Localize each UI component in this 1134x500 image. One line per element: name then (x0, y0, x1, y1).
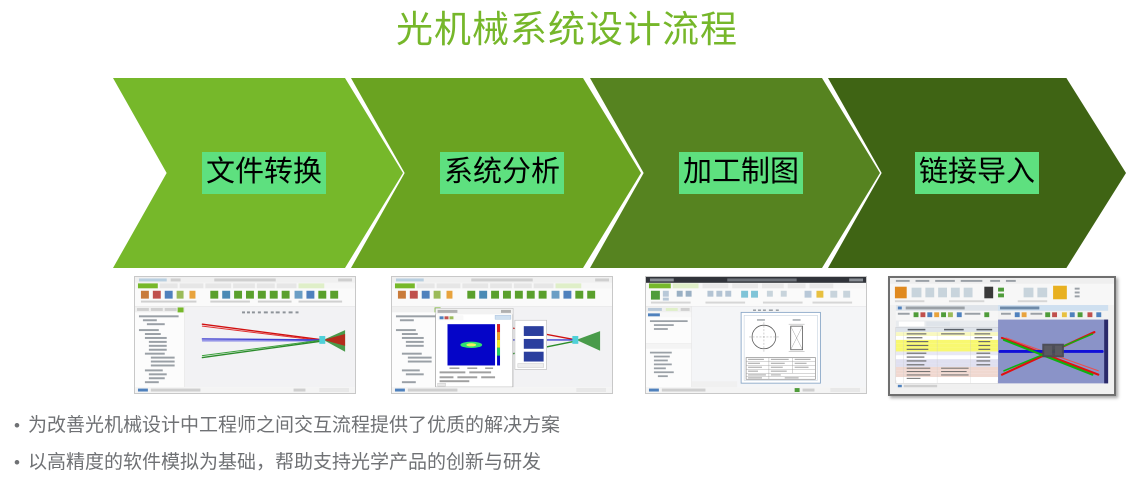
parameter-table-3d-image (890, 278, 1114, 394)
process-step-4-label: 链接导入 (915, 152, 1039, 194)
screenshot-gallery (0, 276, 1134, 396)
spot-diagram-image (392, 277, 612, 393)
process-step-1-label: 文件转换 (202, 152, 326, 194)
process-flow-diagram: 文件转换 系统分析 加工制图 链接导入 (0, 78, 1134, 268)
bullet-text: 以高精度的软件模拟为基础，帮助支持光学产品的创新与研发 (28, 449, 541, 477)
bullet-text: 为改善光机械设计中工程师之间交互流程提供了优质的解决方案 (28, 412, 560, 440)
thumbnail-optical-raytrace[interactable] (134, 276, 356, 394)
cad-drawing-image (646, 277, 866, 393)
thumbnail-cad-drawing[interactable] (645, 276, 867, 394)
bullet-marker-icon: • (6, 412, 28, 440)
thumbnail-parameter-table-3d[interactable] (888, 276, 1116, 396)
bullet-list: • 为改善光机械设计中工程师之间交互流程提供了优质的解决方案 • 以高精度的软件… (6, 412, 1006, 486)
process-step-2-label: 系统分析 (440, 152, 564, 194)
list-item: • 为改善光机械设计中工程师之间交互流程提供了优质的解决方案 (6, 412, 1006, 440)
bullet-marker-icon: • (6, 449, 28, 477)
page-title: 光机械系统设计流程 (0, 4, 1134, 56)
process-step-3-label: 加工制图 (679, 152, 803, 194)
process-step-1[interactable]: 文件转换 (113, 78, 403, 268)
optical-raytrace-image (135, 277, 355, 393)
thumbnail-spot-diagram[interactable] (391, 276, 613, 394)
list-item: • 以高精度的软件模拟为基础，帮助支持光学产品的创新与研发 (6, 449, 1006, 477)
